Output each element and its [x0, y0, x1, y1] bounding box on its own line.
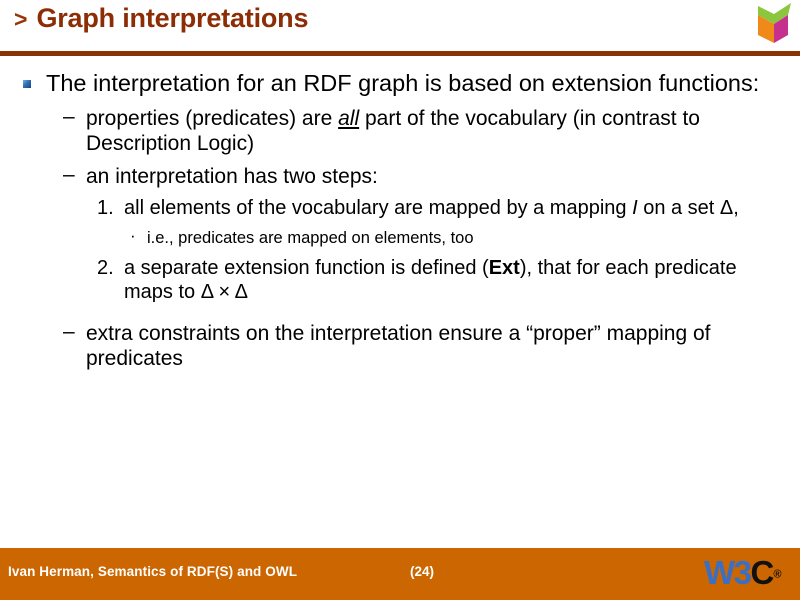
slide-content: The interpretation for an RDF graph is b… [0, 60, 800, 546]
page-title: > Graph interpretations [14, 5, 308, 32]
numbered-item-2: 2. a separate extension function is defi… [0, 256, 800, 304]
numbered-item-2-number: 2. [97, 256, 114, 280]
bullet-level2-steps: – an interpretation has two steps: [0, 164, 800, 189]
bullet-level4-note: · i.e., predicates are mapped on element… [0, 229, 800, 249]
numbered-item-1-number: 1. [97, 196, 114, 220]
title-chevron-icon: > [14, 8, 27, 31]
sub2-text: an interpretation has two steps: [86, 165, 378, 188]
blue-square-bullet-icon [23, 80, 31, 88]
content-spacer [0, 304, 800, 313]
slide-footer: Ivan Herman, Semantics of RDF(S) and OWL… [0, 548, 800, 600]
step1-text-before: all elements of the vocabulary are mappe… [124, 197, 632, 219]
step1-note-text: i.e., predicates are mapped on elements,… [147, 229, 474, 247]
w3c-cube-logo-icon [757, 2, 793, 44]
slide-header: > Graph interpretations [0, 0, 800, 56]
bullet-level2-constraints: – extra constraints on the interpretatio… [0, 321, 800, 371]
sub1-emphasis: all [338, 107, 359, 130]
dash-bullet-icon: – [63, 104, 75, 129]
footer-page-number: (24) [410, 564, 434, 579]
dash-bullet-icon: – [63, 162, 75, 187]
w3c-wordmark-logo-icon: W3C® [704, 556, 790, 592]
footer-author-text: Ivan Herman, Semantics of RDF(S) and OWL [8, 564, 297, 579]
w3c-logo-w3: W3 [704, 554, 751, 591]
numbered-item-1: 1. all elements of the vocabulary are ma… [0, 196, 800, 220]
dash-bullet-icon: – [63, 319, 75, 344]
sub1-text-before: properties (predicates) are [86, 107, 338, 130]
w3c-logo-registered-mark: ® [773, 569, 781, 581]
step2-text-before: a separate extension function is defined… [124, 257, 489, 279]
sub3-text: extra constraints on the interpretation … [86, 322, 711, 370]
slide-title-text: Graph interpretations [36, 5, 308, 32]
header-divider [0, 51, 800, 56]
bullet-level1-text: The interpretation for an RDF graph is b… [46, 70, 759, 96]
step2-emphasis: Ext [489, 257, 520, 279]
dot-bullet-icon: · [130, 226, 136, 246]
bullet-level2-properties: – properties (predicates) are all part o… [0, 106, 800, 156]
step1-text-after: on a set Δ, [638, 197, 739, 219]
bullet-level1: The interpretation for an RDF graph is b… [0, 70, 800, 98]
w3c-logo-c: C [751, 554, 774, 591]
